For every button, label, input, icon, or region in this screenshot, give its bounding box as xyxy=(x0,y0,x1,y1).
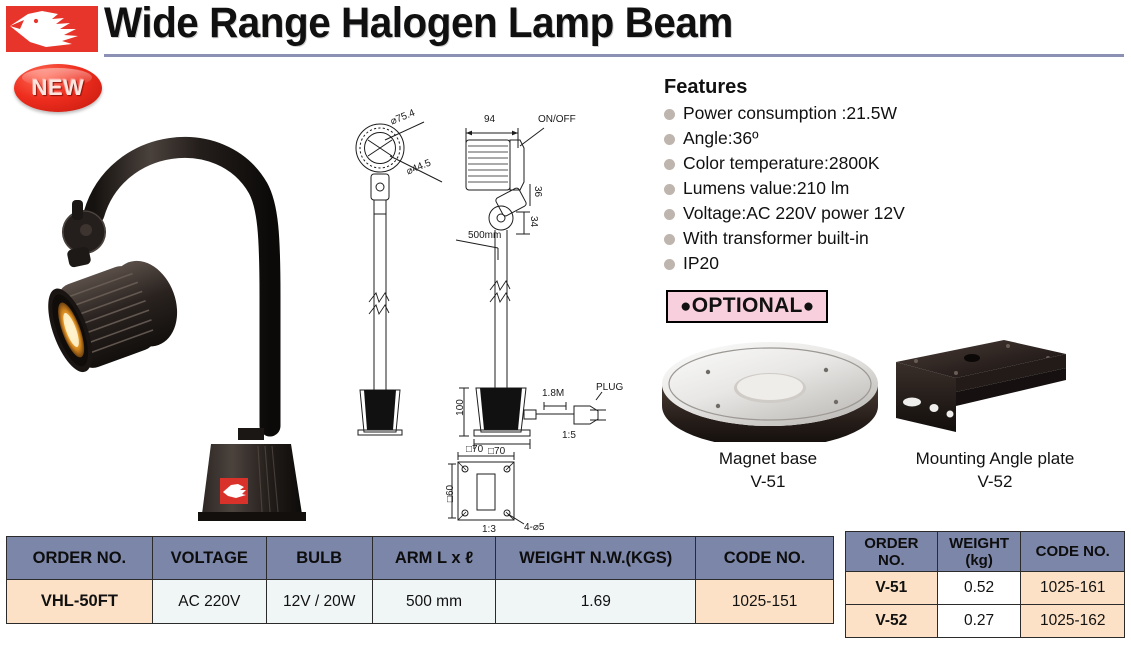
cell-code-no: 1025-161 xyxy=(1021,572,1125,605)
feature-text: Lumens value:210 lm xyxy=(683,176,849,201)
col-code-no: CODE NO. xyxy=(696,537,834,580)
cell-voltage: AC 220V xyxy=(152,580,266,624)
dim-label-4-hole-5: 4-⌀5 xyxy=(524,522,544,533)
bullet-icon xyxy=(664,234,675,245)
angle-plate-photo xyxy=(880,332,1110,442)
page-header: Wide Range Halogen Lamp Beam xyxy=(0,0,1131,60)
cell-order-no: VHL-50FT xyxy=(7,580,153,624)
accessory-magnet-base: Magnet base V-51 xyxy=(650,332,886,493)
col-weight-line1: WEIGHT xyxy=(938,535,1021,552)
dim-label-18m: 1.8M xyxy=(542,388,564,399)
col-code-no: CODE NO. xyxy=(1021,532,1125,572)
dim-label-94: 94 xyxy=(484,114,495,125)
col-order-no-line2: NO. xyxy=(846,552,937,569)
accessory-code: V-52 xyxy=(880,470,1110,493)
optional-label: OPTIONAL xyxy=(692,294,803,317)
col-bulb: BULB xyxy=(266,537,372,580)
optional-banner: ●OPTIONAL● xyxy=(666,290,828,323)
optional-dot-left: ● xyxy=(680,296,692,317)
col-order-no-line1: ORDER xyxy=(846,535,937,552)
table-header-row: ORDER NO. WEIGHT (kg) CODE NO. xyxy=(846,532,1125,572)
table-header-row: ORDER NO. VOLTAGE BULB ARM L x ℓ WEIGHT … xyxy=(7,537,834,580)
features-section: Features Power consumption :21.5W Angle:… xyxy=(664,76,994,276)
bullet-icon xyxy=(664,209,675,220)
table-row: V-52 0.27 1025-162 xyxy=(846,605,1125,638)
cell-code-no: 1025-151 xyxy=(696,580,834,624)
feature-item: Voltage:AC 220V power 12V xyxy=(664,201,994,226)
col-voltage: VOLTAGE xyxy=(152,537,266,580)
accessory-table: ORDER NO. WEIGHT (kg) CODE NO. V-51 0.52… xyxy=(845,531,1125,638)
optional-dot-right: ● xyxy=(803,296,815,317)
accessory-code: V-51 xyxy=(650,470,886,493)
col-weight: WEIGHT (kg) xyxy=(937,532,1021,572)
dim-label-34: 34 xyxy=(528,216,539,227)
accessory-angle-plate: Mounting Angle plate V-52 xyxy=(880,332,1110,493)
feature-item: Color temperature:2800K xyxy=(664,151,994,176)
bullet-icon xyxy=(664,109,675,120)
col-order-no: ORDER NO. xyxy=(7,537,153,580)
dim-label-plug: PLUG xyxy=(596,382,623,393)
feature-text: Voltage:AC 220V power 12V xyxy=(683,201,905,226)
dim-label-on-off: ON/OFF xyxy=(538,114,576,125)
dim-label-100: 100 xyxy=(455,399,466,416)
cell-weight: 0.27 xyxy=(937,605,1021,638)
dimension-drawings xyxy=(338,100,638,525)
bullet-icon xyxy=(664,184,675,195)
col-weight: WEIGHT N.W.(KGS) xyxy=(496,537,696,580)
page-title: Wide Range Halogen Lamp Beam xyxy=(104,0,733,48)
features-heading: Features xyxy=(664,76,994,99)
feature-text: With transformer built-in xyxy=(683,226,869,251)
product-photo xyxy=(6,96,336,521)
cell-code-no: 1025-162 xyxy=(1021,605,1125,638)
bullet-icon xyxy=(664,134,675,145)
feature-item: Lumens value:210 lm xyxy=(664,176,994,201)
eagle-head-icon xyxy=(6,6,98,52)
accessory-name: Magnet base xyxy=(650,447,886,470)
feature-item: Angle:36º xyxy=(664,126,994,151)
scale-label-1-5: 1:5 xyxy=(562,430,576,441)
dim-label-square-70: □70 xyxy=(488,446,505,457)
table-row: V-51 0.52 1025-161 xyxy=(846,572,1125,605)
cell-bulb: 12V / 20W xyxy=(266,580,372,624)
halogen-lamp-illustration xyxy=(6,96,336,521)
feature-item: Power consumption :21.5W xyxy=(664,101,994,126)
feature-text: Angle:36º xyxy=(683,126,758,151)
feature-text: IP20 xyxy=(683,251,719,276)
dim-label-square-70-b: □70 xyxy=(466,444,483,455)
col-arm: ARM L x ℓ xyxy=(372,537,496,580)
cell-arm: 500 mm xyxy=(372,580,496,624)
technical-drawings: ⌀75.4 ⌀44.5 94 ON/OFF 36 34 500mm 100 □7… xyxy=(338,100,638,525)
cell-order-no: V-51 xyxy=(846,572,938,605)
scale-label-1-3: 1:3 xyxy=(482,524,496,535)
col-order-no: ORDER NO. xyxy=(846,532,938,572)
bullet-icon xyxy=(664,259,675,270)
dim-label-square-60: □60 xyxy=(445,485,456,502)
feature-item: IP20 xyxy=(664,251,994,276)
feature-item: With transformer built-in xyxy=(664,226,994,251)
feature-text: Color temperature:2800K xyxy=(683,151,880,176)
table-row: VHL-50FT AC 220V 12V / 20W 500 mm 1.69 1… xyxy=(7,580,834,624)
dim-label-500mm: 500mm xyxy=(468,230,501,241)
bullet-icon xyxy=(664,159,675,170)
feature-text: Power consumption :21.5W xyxy=(683,101,897,126)
cell-weight: 0.52 xyxy=(937,572,1021,605)
accessory-name: Mounting Angle plate xyxy=(880,447,1110,470)
magnet-base-photo xyxy=(650,332,886,442)
col-weight-line2: (kg) xyxy=(938,552,1021,569)
specification-table: ORDER NO. VOLTAGE BULB ARM L x ℓ WEIGHT … xyxy=(6,536,834,624)
cell-weight: 1.69 xyxy=(496,580,696,624)
vertex-eagle-logo xyxy=(6,6,98,52)
cell-order-no: V-52 xyxy=(846,605,938,638)
dim-label-36: 36 xyxy=(532,186,543,197)
title-underline-rule xyxy=(104,54,1124,57)
